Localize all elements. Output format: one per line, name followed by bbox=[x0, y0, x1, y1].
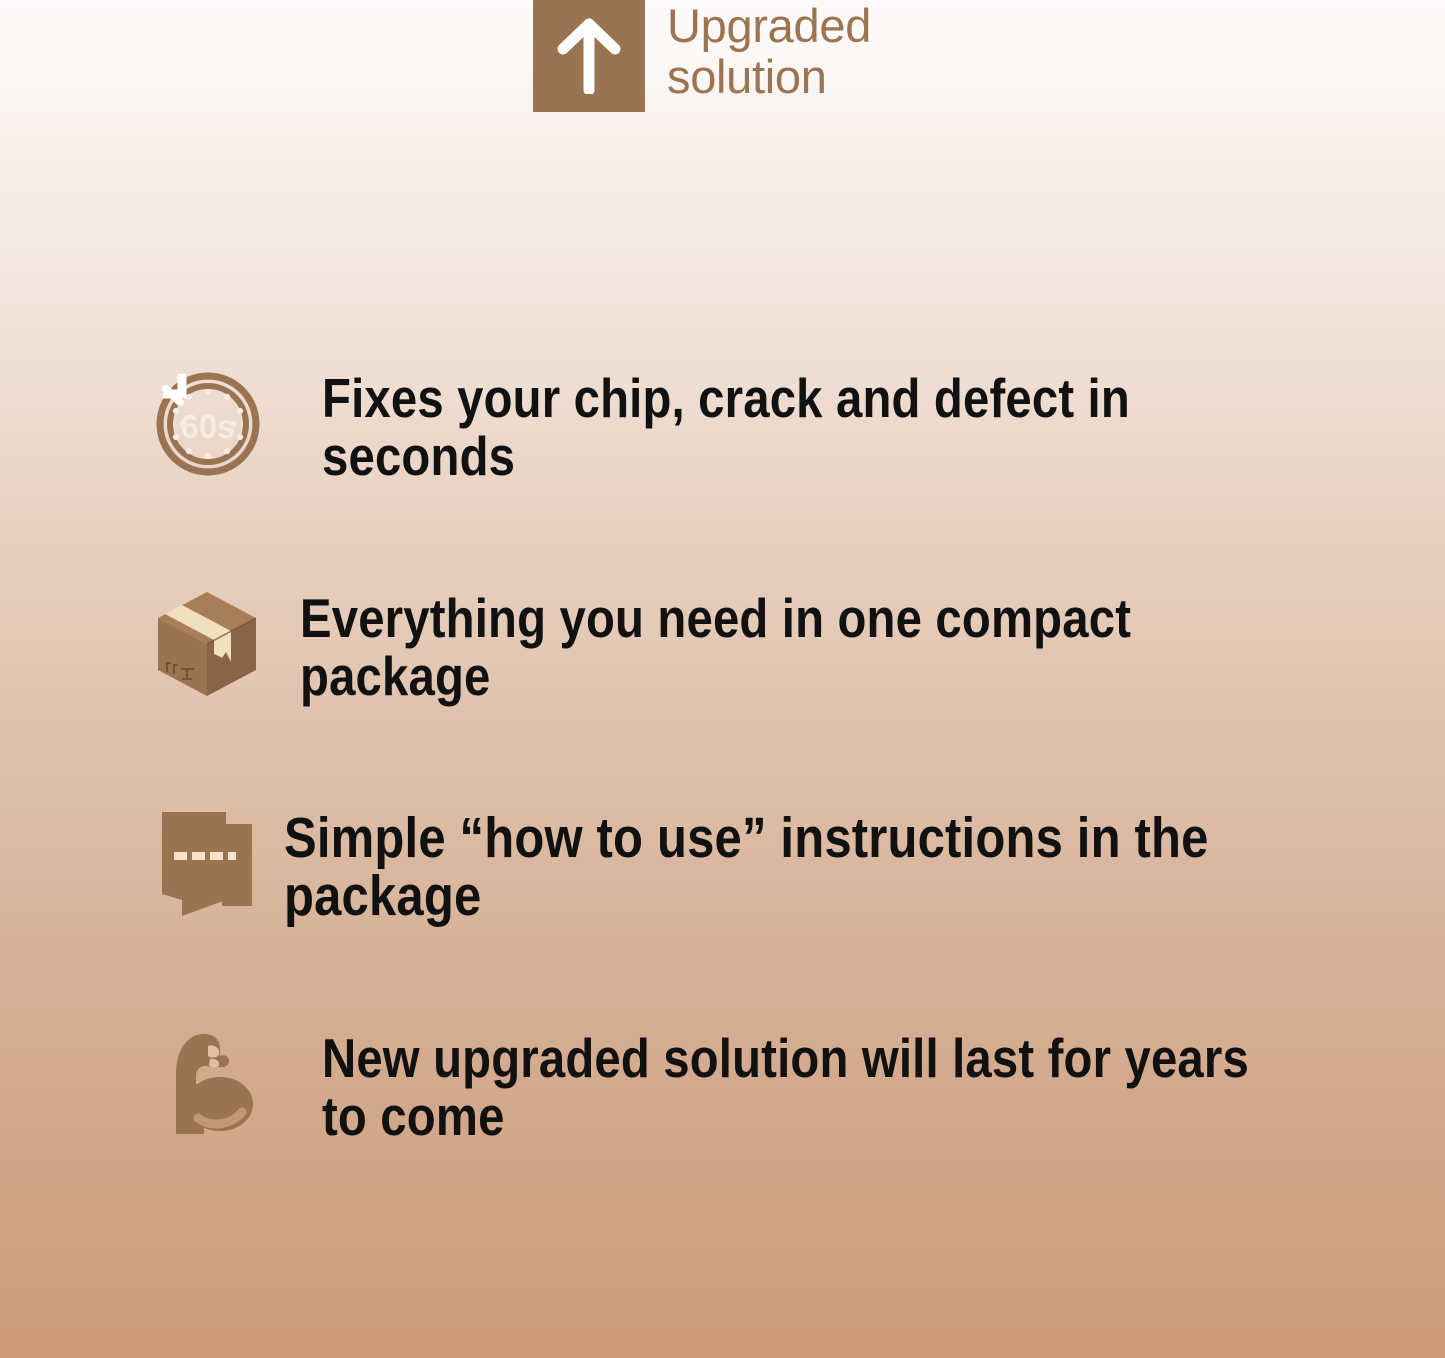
flexed-bicep-icon bbox=[152, 1026, 264, 1138]
feature-text: Simple “how to use” instructions in the … bbox=[284, 809, 1282, 925]
stopwatch-label: 60s bbox=[180, 408, 235, 445]
upgraded-badge bbox=[533, 0, 645, 112]
stopwatch-60s-icon: 60s bbox=[152, 366, 264, 478]
feature-text: Fixes your chip, crack and defect in sec… bbox=[322, 369, 1288, 485]
header-title: Upgraded solution bbox=[667, 0, 871, 102]
header: Upgraded solution bbox=[533, 0, 871, 112]
feature-text: New upgraded solution will last for year… bbox=[322, 1029, 1288, 1145]
package-box-icon bbox=[152, 586, 264, 698]
arrow-up-icon bbox=[556, 18, 622, 94]
feature-item: Everything you need in one compact packa… bbox=[0, 586, 1445, 705]
feature-item: New upgraded solution will last for year… bbox=[0, 1026, 1445, 1145]
infographic-panel: Upgraded solution bbox=[0, 0, 1445, 1358]
feature-item: 60s Fixes your chip, crack and defect in… bbox=[0, 366, 1445, 485]
feature-text: Everything you need in one compact packa… bbox=[300, 589, 1285, 705]
instruction-booklet-icon bbox=[152, 806, 264, 918]
feature-item: Simple “how to use” instructions in the … bbox=[0, 806, 1445, 925]
